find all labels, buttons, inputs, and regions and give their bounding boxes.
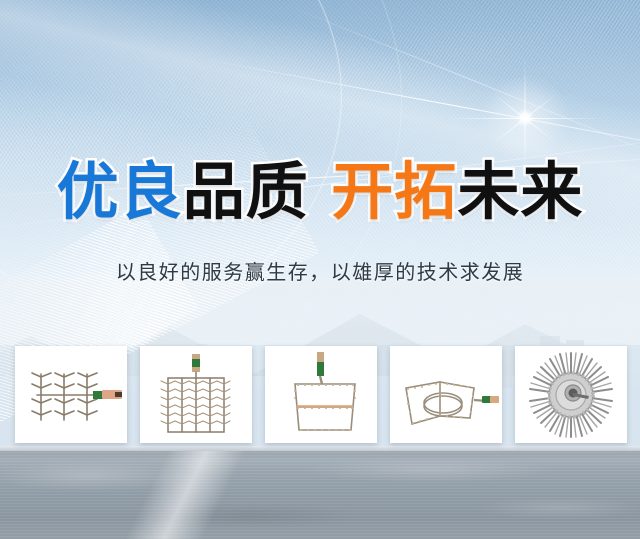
product-image-radial-spoke-rack bbox=[515, 346, 627, 443]
product-image-double-row-hook-rack bbox=[140, 346, 252, 443]
headline-segment-gap bbox=[309, 155, 332, 228]
product-card-loop-plate-rack[interactable] bbox=[390, 346, 502, 443]
headline-segment-4: 未来 bbox=[457, 155, 583, 228]
product-card-frame-rack[interactable] bbox=[265, 346, 377, 443]
flare-core bbox=[516, 109, 534, 127]
product-card-double-row-hook-rack[interactable] bbox=[140, 346, 252, 443]
product-card-radial-spoke-rack[interactable] bbox=[515, 346, 627, 443]
headline-segment-1: 优良 bbox=[57, 155, 183, 228]
page-title: 优良品质 开拓未来 bbox=[0, 158, 640, 226]
headline-segment-2: 品质 bbox=[183, 155, 309, 228]
headline-segment-3: 开拓 bbox=[331, 155, 457, 228]
product-card-row bbox=[15, 346, 627, 444]
ground-texture bbox=[0, 446, 640, 539]
product-image-loop-plate-rack bbox=[390, 346, 502, 443]
product-image-comb-rack bbox=[15, 346, 127, 443]
product-card-comb-rack[interactable] bbox=[15, 346, 127, 443]
product-image-frame-rack bbox=[265, 346, 377, 443]
promo-banner: 优良品质 开拓未来 以良好的服务赢生存，以雄厚的技术求发展 bbox=[0, 0, 640, 539]
ground-edge-highlight bbox=[0, 446, 640, 451]
ground-floor bbox=[0, 446, 640, 539]
page-subtitle: 以良好的服务赢生存，以雄厚的技术求发展 bbox=[0, 258, 640, 286]
